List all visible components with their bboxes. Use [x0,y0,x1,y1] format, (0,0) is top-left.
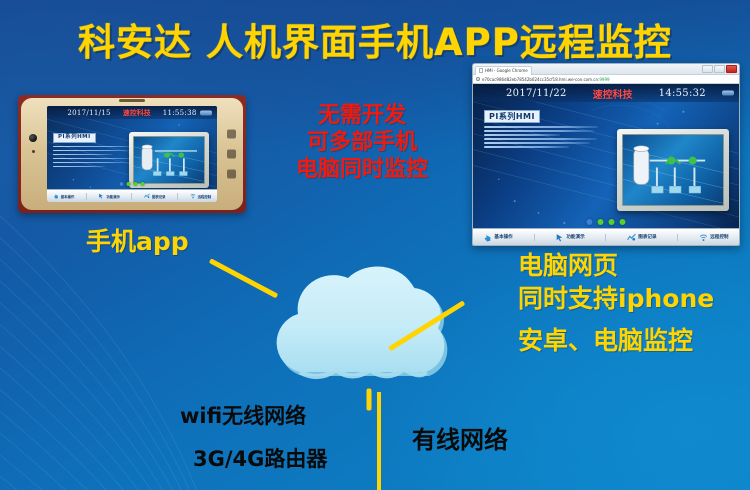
cursor-click-icon [555,233,564,242]
chrome-tab-title: HMI - Google Chrome [485,68,528,73]
pc-nav-label: 远程控制 [710,234,728,240]
phone-key-home-icon [227,150,236,159]
phone-device: 2017/11/15 速控科技 11:55:38 PI系列HMI [18,95,246,213]
nav-separator [86,193,87,200]
chrome-url-text: e70cac986d82eb78542b024cc35cf18.hmi.we-c… [482,77,610,82]
pc-hmi-textbox: PI系列HMI [484,110,602,150]
phone-key-back-icon [227,130,236,139]
phone-nav-item-remote-control[interactable]: 远程控制 [190,193,212,199]
minimize-button[interactable] [702,65,713,73]
page-dot[interactable] [609,219,615,225]
phone-nav-label: 功能演示 [106,194,120,199]
phone-screen[interactable]: 2017/11/15 速控科技 11:55:38 PI系列HMI [47,106,217,202]
pc-nav-label: 图表记录 [638,234,656,240]
page-favicon-icon [479,68,483,73]
cloud-network-shape [238,250,506,392]
chrome-address-bar[interactable]: i e70cac986d82eb78542b024cc35cf18.hmi.we… [473,75,739,84]
page-dot[interactable] [134,182,138,186]
chrome-url-port: :9999 [598,77,610,82]
pc-hmi-page[interactable]: 2017/11/22 速控科技 14:55:32 PI系列HMI [473,84,739,245]
chrome-tab[interactable]: HMI - Google Chrome [475,66,532,75]
pc-process-diagram [623,135,723,205]
pc-hmi-status-pill-icon [722,91,734,96]
phone-sensor-icon [32,150,35,153]
nav-separator [131,193,132,200]
pc-nav-label: 基本操作 [494,234,512,240]
phone-nav-item-chart-record[interactable]: 图表记录 [144,193,166,199]
cursor-click-icon [98,193,104,199]
pc-hmi-page-dots[interactable] [587,219,626,225]
page-dot[interactable] [127,182,131,186]
phone-hmi-page: 2017/11/15 速控科技 11:55:38 PI系列HMI [47,106,217,202]
right-callout-line-1: 电脑网页 [518,250,714,283]
pc-hmi-device-panel [617,129,729,211]
window-controls[interactable] [702,65,737,73]
nav-separator [534,234,535,241]
phone-hmi-textbox-title: PI系列HMI [53,133,96,143]
red-callout-block: 无需开发 可多部手机 电脑同时监控 [296,103,428,183]
phone-hmi-date: 2017/11/15 [67,109,110,117]
phone-hmi-panel-screen [133,136,205,184]
phone-front-camera-icon [29,134,37,142]
nav-separator [677,234,678,241]
router-label: 3G/4G路由器 [193,443,327,473]
pc-hmi-content: 2017/11/22 速控科技 14:55:32 PI系列HMI [473,84,739,245]
pc-hmi-header: 2017/11/22 速控科技 14:55:32 [473,84,739,102]
phone-process-diagram [134,137,204,183]
phone-hmi-textbox: PI系列HMI [53,123,139,170]
pc-hmi-date: 2017/11/22 [506,88,567,99]
wifi-signal-icon [190,193,196,199]
phone-earpiece [119,99,145,102]
connector-cloud-to-network [367,389,372,411]
pc-nav-item-basic-operation[interactable]: 基本操作 [483,233,512,242]
pc-nav-item-function-demo[interactable]: 功能演示 [555,233,584,242]
page-dot[interactable] [587,219,593,225]
close-button[interactable] [726,65,737,73]
phone-nav-item-function-demo[interactable]: 功能演示 [98,193,120,199]
red-callout-line-3: 电脑同时监控 [296,157,428,184]
page-dot[interactable] [598,219,604,225]
phone-key-menu-icon [227,170,236,179]
phone-app-label: 手机app [86,222,189,258]
pc-hmi-brand: 速控科技 [593,86,633,101]
red-callout-line-1: 无需开发 [296,103,428,130]
wifi-signal-icon [699,233,708,242]
poster-canvas: 科安达 人机界面手机APP远程监控 [0,0,750,490]
pc-hmi-textbox-title: PI系列HMI [484,110,540,123]
phone-hmi-page-dots[interactable] [120,182,145,186]
page-dot[interactable] [120,182,124,186]
hand-pointer-icon [483,233,492,242]
pc-hmi-navbar[interactable]: 基本操作 功能演示 图表记录 远程控制 [473,228,739,245]
phone-nav-label: 基本操作 [61,194,75,199]
right-callout-line-2: 同时支持iphone [518,283,714,316]
chrome-titlebar[interactable]: HMI - Google Chrome [473,64,739,75]
wired-network-label: 有线网络 [412,420,508,455]
nav-separator [605,234,606,241]
phone-hmi-navbar[interactable]: 基本操作 功能演示 图表记录 [47,189,217,202]
page-dot[interactable] [620,219,626,225]
site-info-icon[interactable]: i [476,77,480,81]
red-callout-line-2: 可多部手机 [296,130,428,157]
phone-hmi-time: 11:55:38 [163,109,197,117]
nav-separator [177,193,178,200]
hand-pointer-icon [53,193,59,199]
right-callout-block: 电脑网页 同时支持iphone 安卓、电脑监控 [518,250,714,358]
phone-hmi-brand: 速控科技 [123,108,151,118]
right-callout-line-3: 安卓、电脑监控 [518,325,714,358]
pc-nav-label: 功能演示 [566,234,584,240]
page-dot[interactable] [141,182,145,186]
chrome-browser-window[interactable]: HMI - Google Chrome i e70cac986d82eb7854… [472,63,740,246]
maximize-button[interactable] [714,65,725,73]
network-divider [377,392,381,490]
wifi-network-label: wifi无线网络 [180,400,306,430]
phone-hmi-status-pill-icon [200,110,212,115]
pc-hmi-time: 14:55:32 [659,88,706,99]
pc-nav-item-remote-control[interactable]: 远程控制 [699,233,728,242]
line-chart-icon [144,193,150,199]
phone-nav-label: 远程控制 [198,194,212,199]
phone-body: 2017/11/15 速控科技 11:55:38 PI系列HMI [21,98,243,210]
phone-nav-item-basic-operation[interactable]: 基本操作 [53,193,75,199]
phone-hmi-header: 2017/11/15 速控科技 11:55:38 [47,106,217,119]
pc-hmi-panel-screen [622,134,724,206]
pc-nav-item-chart-record[interactable]: 图表记录 [627,233,656,242]
phone-hmi-textbox-lines [53,146,139,168]
pc-hmi-textbox-lines [484,126,602,148]
line-chart-icon [627,233,636,242]
page-title: 科安达 人机界面手机APP远程监控 [0,12,750,66]
phone-nav-label: 图表记录 [152,194,166,199]
phone-side-keys [227,130,236,179]
phone-hmi-device-panel [129,132,209,188]
